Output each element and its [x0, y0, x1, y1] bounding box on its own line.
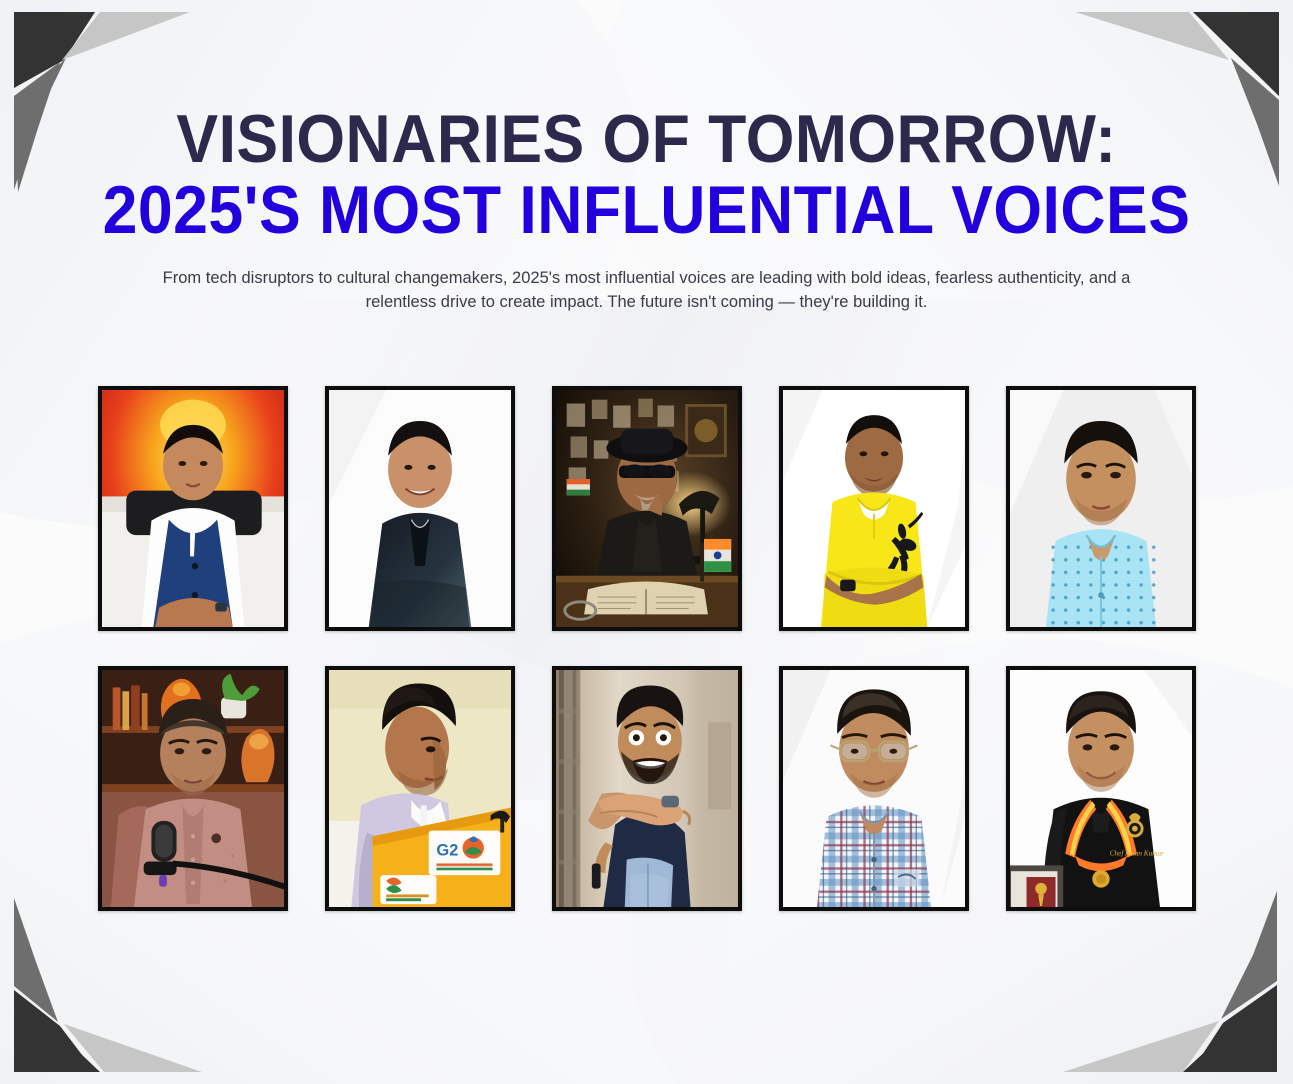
- photo-frame-7[interactable]: G2: [325, 666, 515, 911]
- svg-text:Chef Aman Kumar: Chef Aman Kumar: [1109, 850, 1163, 858]
- portrait-photo-3: [556, 390, 738, 627]
- photo-frame-8[interactable]: [552, 666, 742, 911]
- svg-text:G2: G2: [436, 842, 458, 860]
- photo-frame-2[interactable]: [325, 386, 515, 631]
- portrait-photo-1: [102, 390, 284, 627]
- photo-frame-1[interactable]: [98, 386, 288, 631]
- photo-frame-4[interactable]: [779, 386, 969, 631]
- poster-header: VISIONARIES OF TOMORROW: 2025'S MOST INF…: [0, 0, 1293, 314]
- portrait-photo-2: [329, 390, 511, 627]
- photo-gallery-grid: G2: [87, 386, 1207, 911]
- corner-decoration-bottom-left-icon: [0, 894, 270, 1084]
- portrait-photo-5: [1010, 390, 1192, 627]
- photo-frame-5[interactable]: [1006, 386, 1196, 631]
- photo-frame-9[interactable]: [779, 666, 969, 911]
- portrait-photo-9: [783, 670, 965, 907]
- photo-frame-6[interactable]: [98, 666, 288, 911]
- poster-canvas: VISIONARIES OF TOMORROW: 2025'S MOST INF…: [0, 0, 1293, 1084]
- portrait-photo-4: [783, 390, 965, 627]
- photo-frame-3[interactable]: [552, 386, 742, 631]
- portrait-photo-6: [102, 670, 284, 907]
- portrait-photo-10: Chef Aman Kumar: [1010, 670, 1192, 907]
- corner-decoration-bottom-right-icon: [1023, 889, 1293, 1084]
- page-subtitle: From tech disruptors to cultural changem…: [132, 267, 1162, 314]
- portrait-photo-7: G2: [329, 670, 511, 907]
- page-title-line-1: VISIONARIES OF TOMORROW:: [52, 108, 1242, 171]
- photo-frame-10[interactable]: Chef Aman Kumar: [1006, 666, 1196, 911]
- portrait-photo-8: [556, 670, 738, 907]
- page-title-line-2: 2025'S MOST INFLUENTIAL VOICES: [52, 179, 1242, 242]
